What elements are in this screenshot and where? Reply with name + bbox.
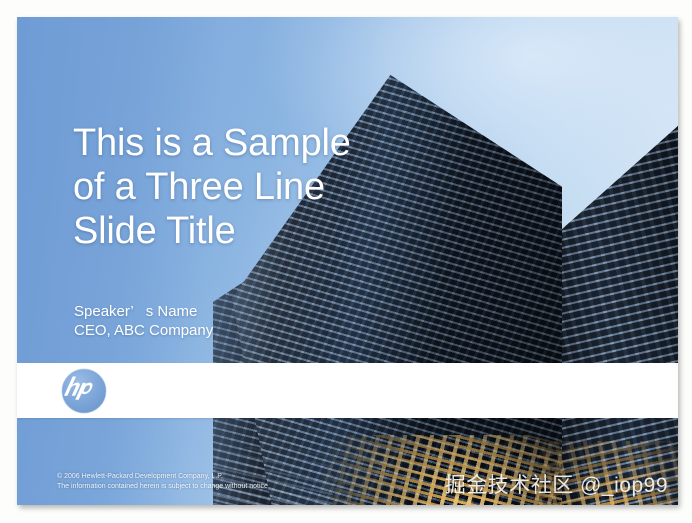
page-canvas: This is a Sample of a Three Line Slide T… <box>0 0 692 523</box>
slide-title: This is a Sample of a Three Line Slide T… <box>73 121 493 253</box>
slide-footer: © 2006 Hewlett-Packard Development Compa… <box>57 472 487 492</box>
presentation-slide[interactable]: This is a Sample of a Three Line Slide T… <box>17 17 678 505</box>
title-line-2: of a Three Line <box>73 165 493 209</box>
watermark-text: 掘金技术社区 @_iop99 <box>445 473 668 499</box>
footer-disclaimer: The information contained herein is subj… <box>57 482 487 492</box>
blue-overlay-haze <box>17 17 678 505</box>
hp-logo-icon <box>60 367 108 415</box>
speaker-name: Speaker’ s Name <box>74 302 213 321</box>
speaker-role: CEO, ABC Company <box>74 321 213 340</box>
footer-copyright: © 2006 Hewlett-Packard Development Compa… <box>57 472 487 482</box>
speaker-info: Speaker’ s Name CEO, ABC Company <box>74 302 213 340</box>
title-line-1: This is a Sample <box>73 121 493 165</box>
title-line-3: Slide Title <box>73 209 493 253</box>
white-divider-band <box>17 363 678 418</box>
